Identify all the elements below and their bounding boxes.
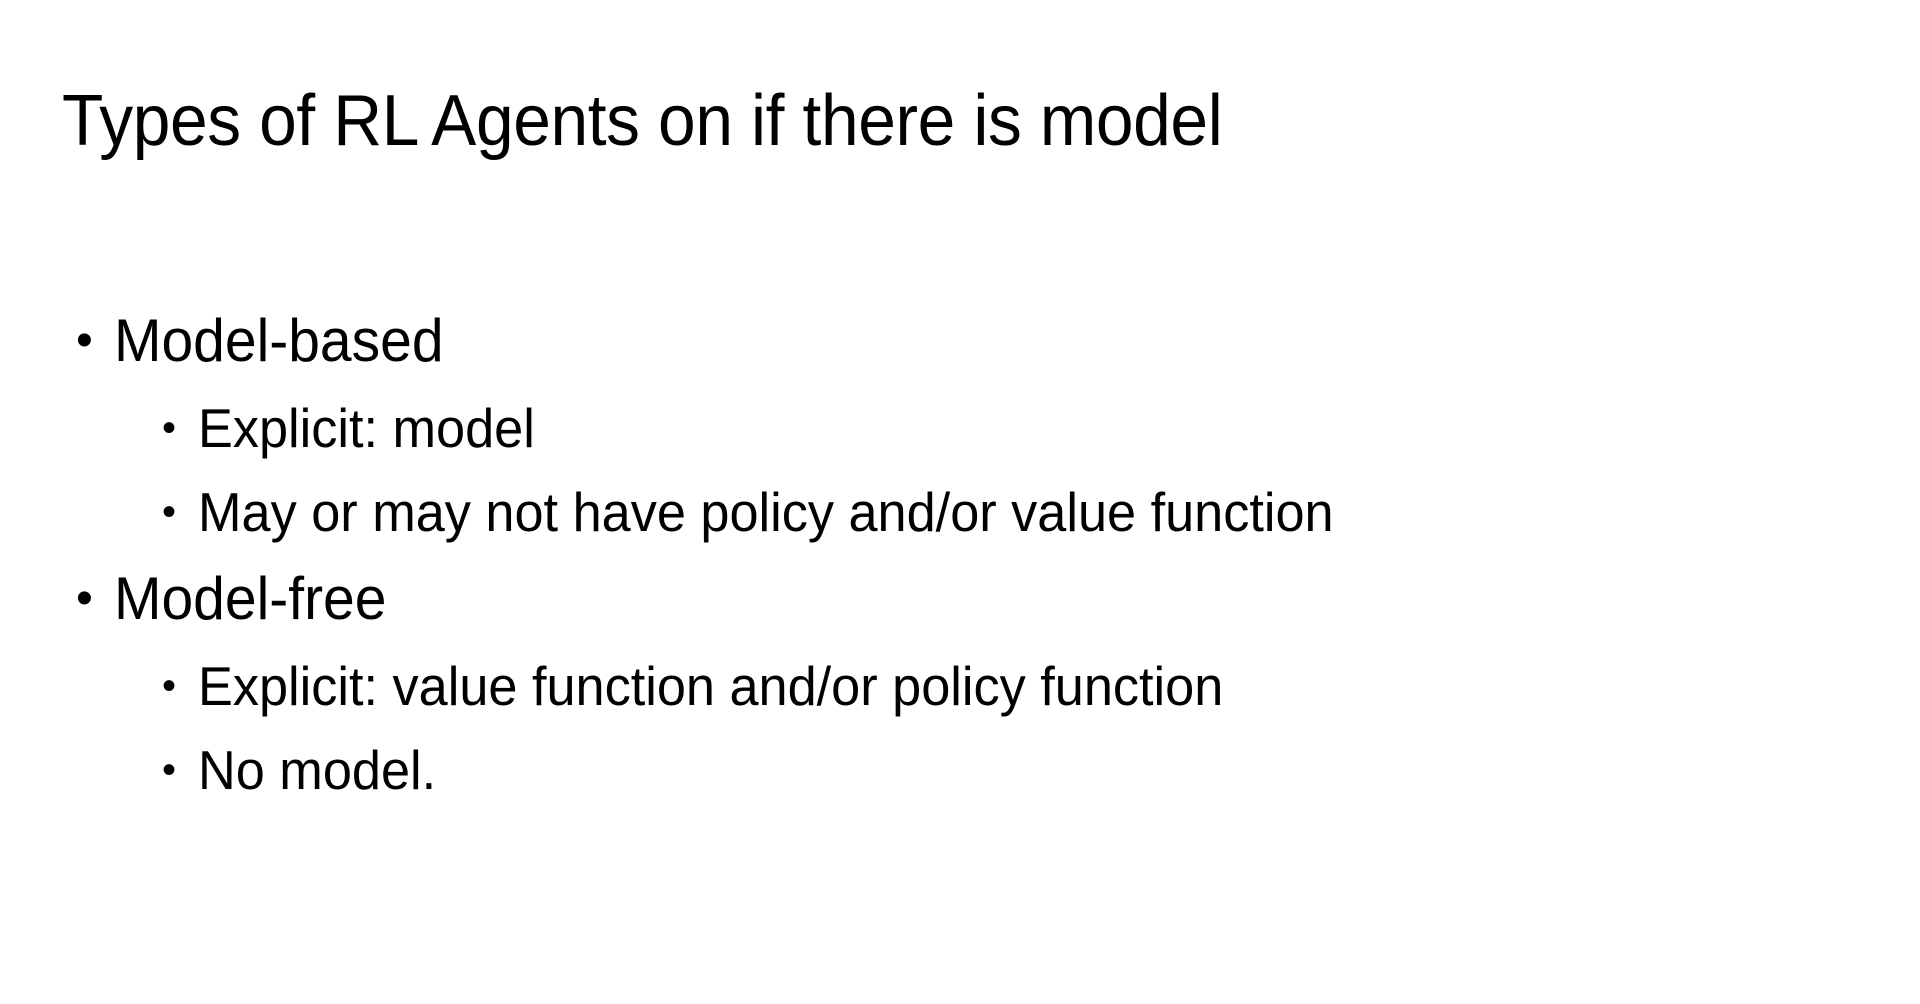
list-item: • May or may not have policy and/or valu… [62,470,1882,554]
list-item-label: Model-free [114,554,386,644]
list-item: • Model-based [62,296,1882,386]
list-item-label: Explicit: value function and/or policy f… [198,644,1223,728]
bullet-list: • Model-based • Explicit: model • May or… [62,296,1882,812]
list-item-label: May or may not have policy and/or value … [198,470,1334,554]
list-item-label: Explicit: model [198,386,535,470]
bullet-dot-icon: • [162,386,198,470]
bullet-dot-icon: • [162,644,198,728]
bullet-dot-icon: • [76,554,114,644]
list-item-label: No model. [198,728,436,812]
list-item: • Model-free [62,554,1882,644]
list-item: • Explicit: model [62,386,1882,470]
bullet-dot-icon: • [162,470,198,554]
list-item: • Explicit: value function and/or policy… [62,644,1882,728]
bullet-dot-icon: • [76,296,114,386]
bullet-dot-icon: • [162,728,198,812]
list-item: • No model. [62,728,1882,812]
list-item-label: Model-based [114,296,444,386]
slide-canvas: Types of RL Agents on if there is model … [0,0,1920,1004]
page-title: Types of RL Agents on if there is model [62,78,1754,164]
